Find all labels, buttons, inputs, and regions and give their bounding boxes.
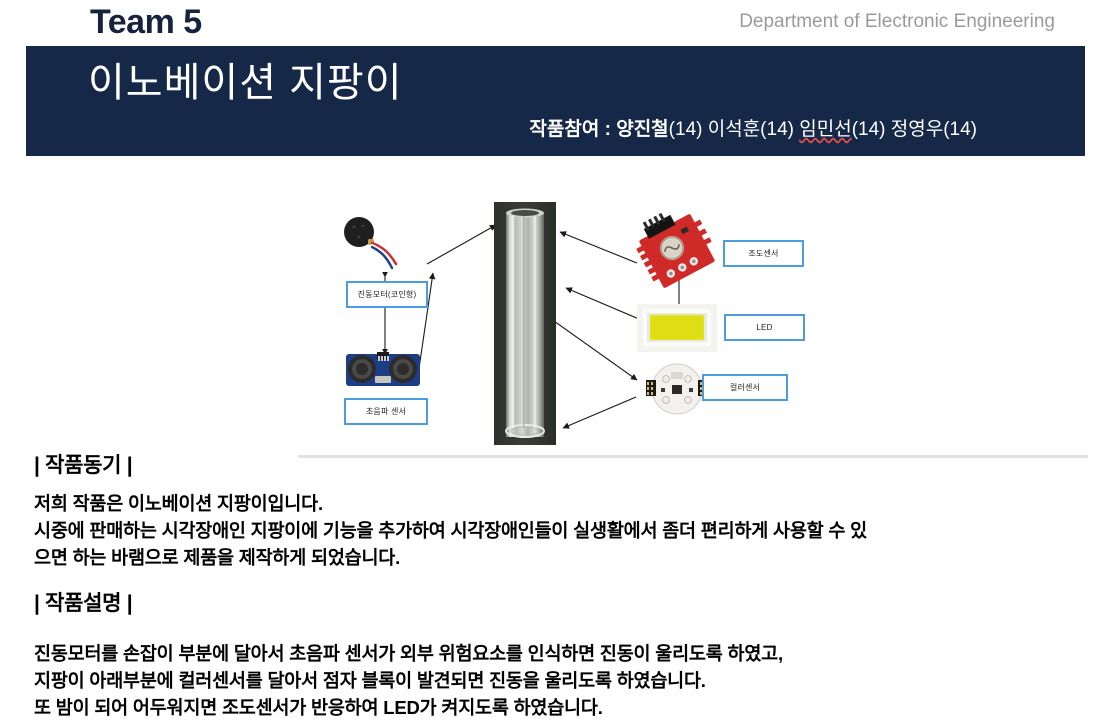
label-ultrasonic-sensor: 초음파 센서 <box>344 398 428 425</box>
ultrasonic-sensor-photo <box>344 348 422 392</box>
label-color-sensor: 컬러센서 <box>702 374 788 401</box>
label-led-text: LED <box>756 323 772 332</box>
department-label: Department of Electronic Engineering <box>739 8 1055 36</box>
participants-part2: (14) 정영우(14) <box>852 119 977 140</box>
team-title: Team 5 <box>90 0 202 44</box>
label-vibration-motor: 진동모터(코인형) <box>346 281 428 308</box>
heading-motive: | 작품동기 | <box>34 452 132 480</box>
participants-misspelled-name: 임민선 <box>799 119 851 140</box>
label-light-sensor: 조도센서 <box>723 240 804 267</box>
section-divider <box>298 455 1088 458</box>
title-banner: 이노베이션 지팡이 작품참여 : 양진철(14) 이석훈(14) 임민선(14)… <box>26 46 1085 156</box>
label-ultrasonic-sensor-text: 초음파 센서 <box>366 406 406 417</box>
body-description: 진동모터를 손잡이 부분에 달아서 초음파 센서가 외부 위험요소를 인식하면 … <box>34 640 1079 721</box>
component-diagram: 진동모터(코인형) 초음파 센서 조도센서 LED 컬러센서 <box>296 192 816 454</box>
light-sensor-board-photo <box>632 208 722 294</box>
project-title: 이노베이션 지팡이 <box>88 54 403 112</box>
page-header: Team 5 Department of Electronic Engineer… <box>0 0 1111 46</box>
participants-label: 작품참여 : 양진철 <box>529 119 668 140</box>
label-color-sensor-text: 컬러센서 <box>730 382 760 393</box>
participants-line: 작품참여 : 양진철(14) 이석훈(14) 임민선(14) 정영우(14) <box>529 116 977 144</box>
coin-vibration-motor-photo <box>338 214 410 276</box>
label-vibration-motor-text: 진동모터(코인형) <box>358 289 417 300</box>
body-motive-line-3: 으면 하는 바램으로 제품을 제작하게 되었습니다. <box>34 544 1079 571</box>
body-motive: 저희 작품은 이노베이션 지팡이입니다. 시중에 판매하는 시각장애인 지팡이에… <box>34 490 1079 571</box>
body-description-line-1: 진동모터를 손잡이 부분에 달아서 초음파 센서가 외부 위험요소를 인식하면 … <box>34 640 1079 667</box>
label-light-sensor-text: 조도센서 <box>748 248 778 259</box>
led-chip-photo <box>637 304 717 352</box>
label-led: LED <box>724 314 805 341</box>
body-description-line-3: 또 밤이 되어 어두워지면 조도센서가 반응하여 LED가 켜지도록 하였습니다… <box>34 694 1079 721</box>
body-motive-line-2: 시중에 판매하는 시각장애인 지팡이에 기능을 추가하여 시각장애인들이 실생활… <box>34 517 1079 544</box>
participants-part1: (14) 이석훈(14) <box>669 119 800 140</box>
body-description-line-2: 지팡이 아래부분에 컬러센서를 달아서 점자 블록이 발견되면 진동을 울리도록… <box>34 667 1079 694</box>
body-motive-line-1: 저희 작품은 이노베이션 지팡이입니다. <box>34 490 1079 517</box>
heading-description: | 작품설명 | <box>34 590 132 618</box>
acrylic-cane-tube-photo <box>494 202 556 445</box>
